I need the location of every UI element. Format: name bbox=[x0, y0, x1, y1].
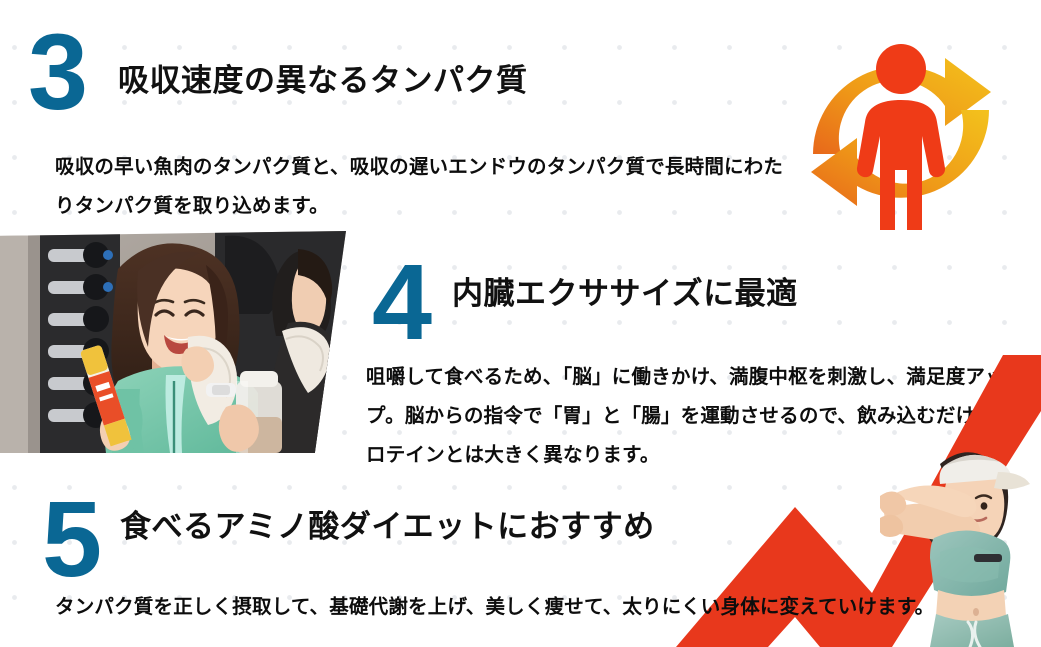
section-headline-4: 内臓エクササイズに最適 bbox=[452, 275, 798, 312]
infographic-page: 3 吸収速度の異なるタンパク質 吸収の早い魚肉のタンパク質と、吸収の遅いエンドウ… bbox=[0, 0, 1041, 647]
section-body-3: 吸収の早い魚肉のタンパク質と、吸収の遅いエンドウのタンパク質で長時間にわたりタン… bbox=[55, 148, 795, 226]
person-recycle-cycle-icon bbox=[795, 18, 1007, 230]
woman-with-protein-bar-photo bbox=[0, 231, 346, 453]
gym-photo-illustration bbox=[0, 231, 346, 453]
section-number-4: 4 bbox=[372, 248, 430, 356]
stretch-photo-illustration bbox=[880, 440, 1041, 647]
section-number-3: 3 bbox=[28, 18, 86, 126]
section-headline-3: 吸収速度の異なるタンパク質 bbox=[118, 62, 528, 99]
section-body-5: タンパク質を正しく摂取して、基礎代謝を上げ、美しく痩せて、太りにくい身体に変えて… bbox=[55, 588, 960, 627]
section-headline-5: 食べるアミノ酸ダイエットにおすすめ bbox=[120, 508, 655, 545]
woman-stretching-photo bbox=[880, 440, 1041, 647]
section-number-5: 5 bbox=[42, 485, 100, 593]
